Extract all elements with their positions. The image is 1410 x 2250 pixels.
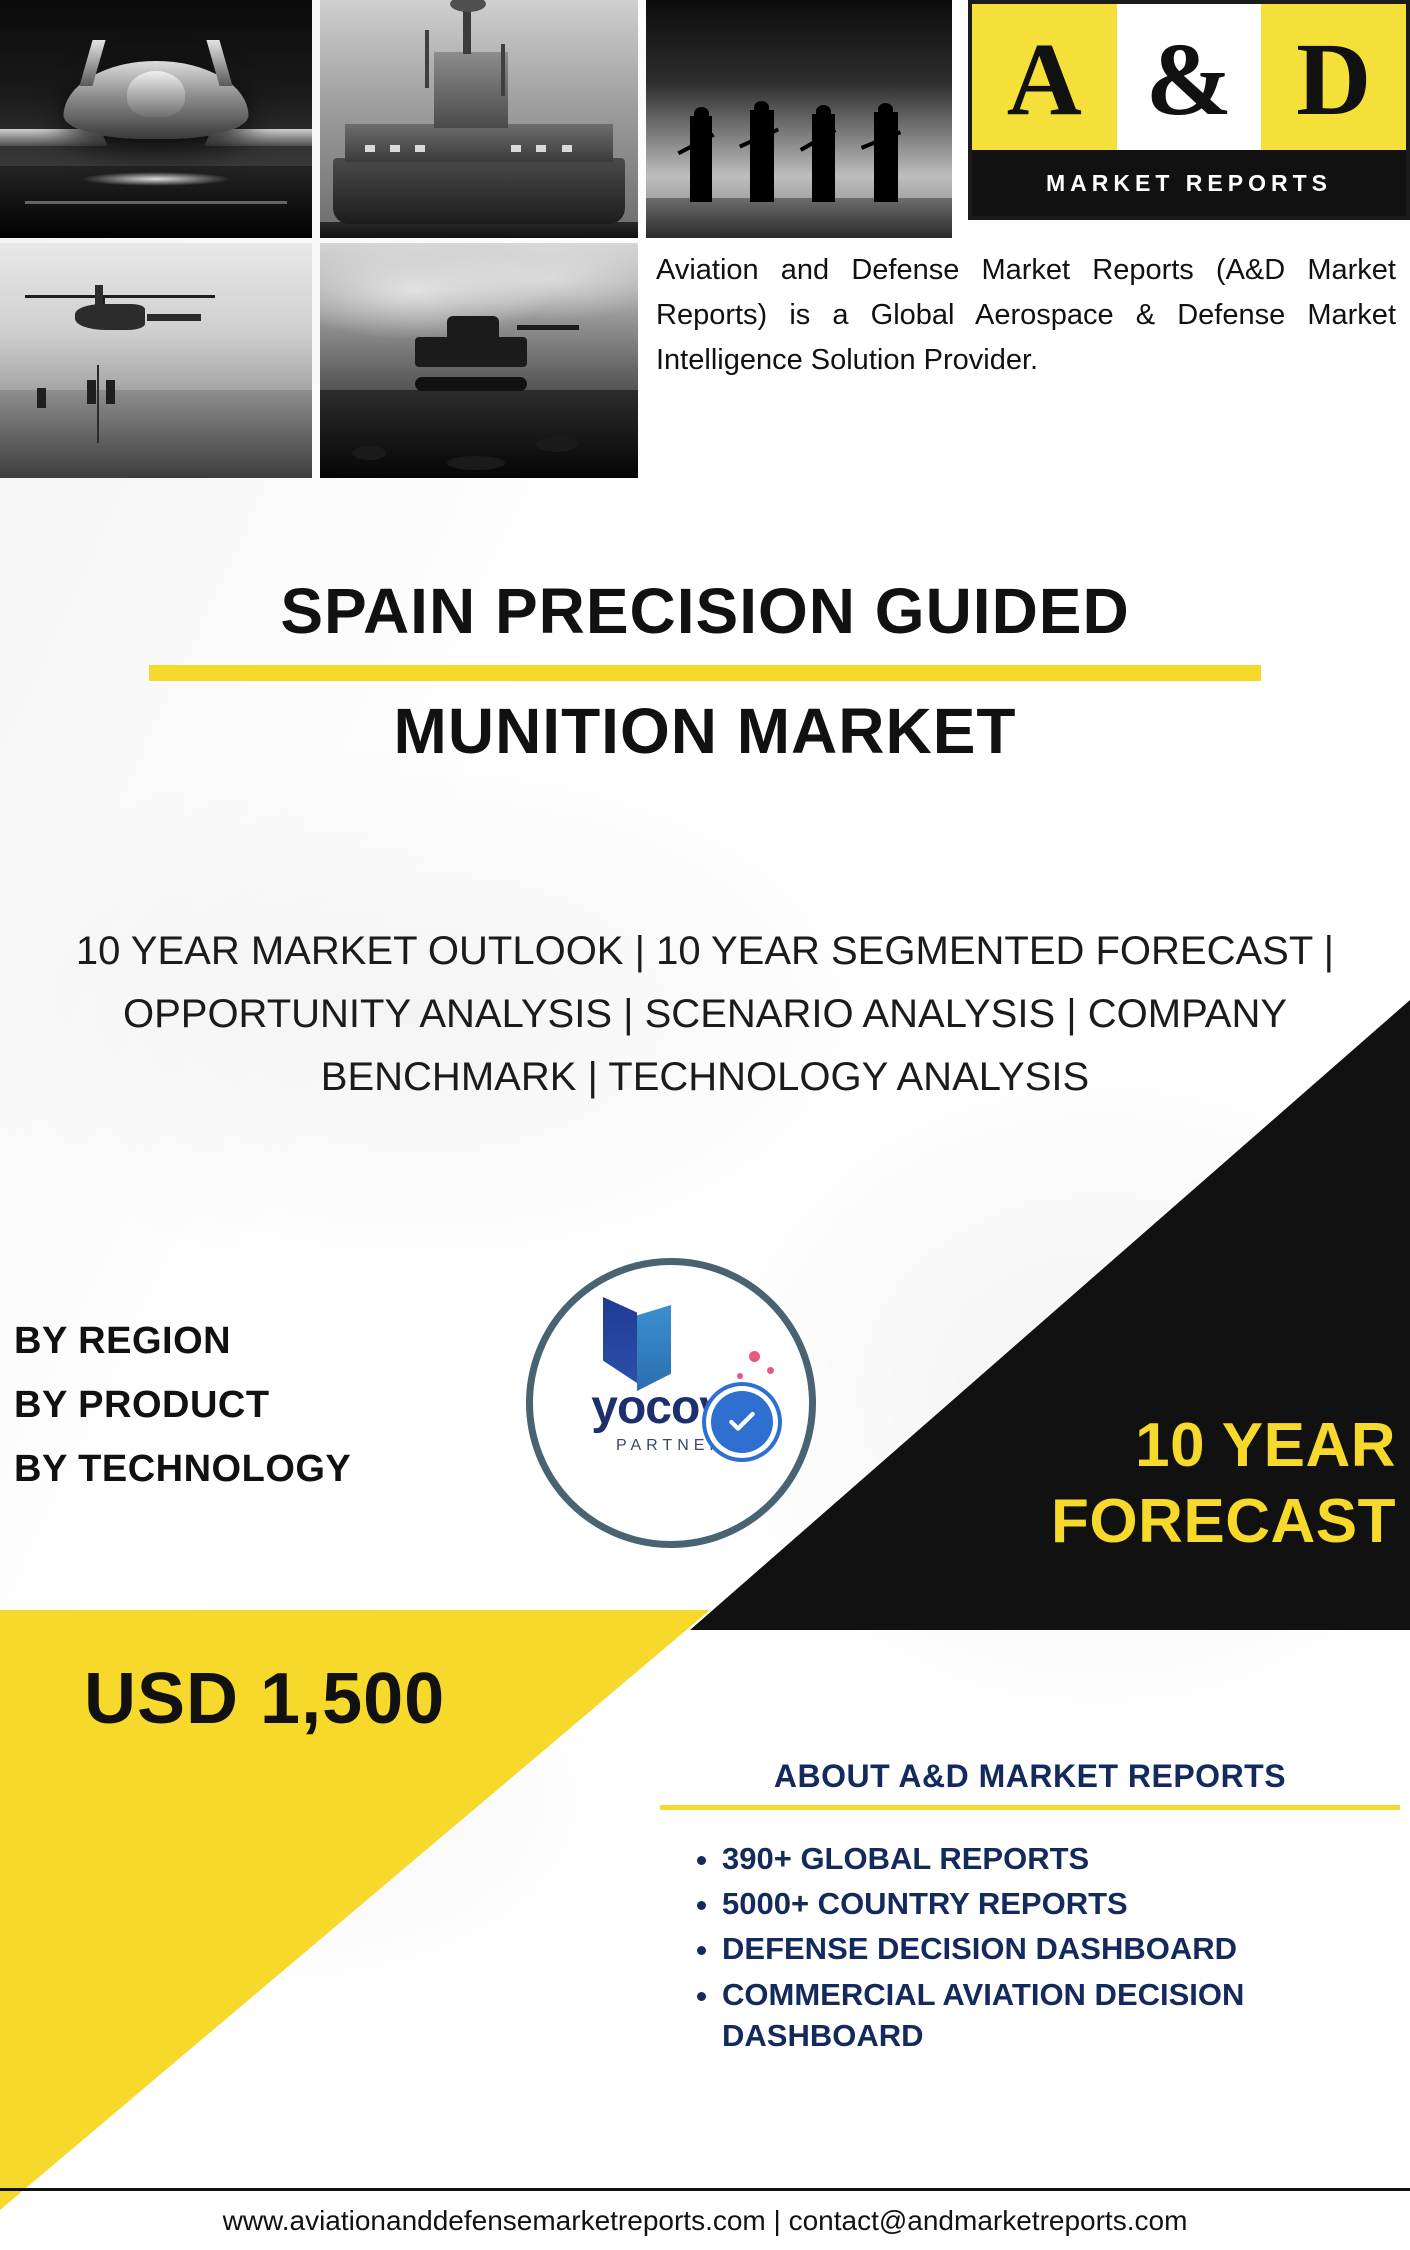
- logo-letter-d: D: [1296, 28, 1371, 132]
- report-title-line-1: SPAIN PRECISION GUIDED: [0, 575, 1410, 649]
- about-list: 390+ GLOBAL REPORTS 5000+ COUNTRY REPORT…: [660, 1838, 1400, 2056]
- segmentation-item-technology: BY TECHNOLOGY: [14, 1438, 351, 1502]
- company-logo: A & D MARKET REPORTS: [968, 0, 1410, 220]
- footer-contact-text: www.aviationanddefensemarketreports.com …: [223, 2205, 1188, 2237]
- about-title: ABOUT A&D MARKET REPORTS: [660, 1758, 1400, 1795]
- fighter-jet-photo: [0, 0, 312, 238]
- footer-bar: www.aviationanddefensemarketreports.com …: [0, 2188, 1410, 2250]
- forecast-line-2: FORECAST: [1051, 1484, 1396, 1560]
- report-title-line-2: MUNITION MARKET: [0, 695, 1410, 769]
- yocova-logo-shape-left-icon: [603, 1297, 637, 1383]
- segmentation-item-product: BY PRODUCT: [14, 1374, 351, 1438]
- segmentation-list: BY REGION BY PRODUCT BY TECHNOLOGY: [14, 1310, 351, 1501]
- report-subtitle: 10 YEAR MARKET OUTLOOK | 10 YEAR SEGMENT…: [40, 920, 1370, 1110]
- verified-check-icon: [711, 1391, 773, 1453]
- helicopter-photo: [0, 243, 312, 478]
- intro-paragraph: Aviation and Defense Market Reports (A&D…: [656, 248, 1396, 383]
- price-label: USD 1,500: [84, 1658, 445, 1740]
- yocova-logo-shape-right-icon: [637, 1305, 671, 1391]
- yocova-partner-badge: yocova PARTNER: [526, 1258, 816, 1548]
- about-list-item: DEFENSE DECISION DASHBOARD: [722, 1928, 1400, 1969]
- logo-ampersand: &: [1146, 28, 1233, 132]
- yocova-partner-label: PARTNER: [616, 1437, 726, 1455]
- about-list-item: COMMERCIAL AVIATION DECISION DASHBOARD: [722, 1974, 1400, 2056]
- about-list-item: 5000+ COUNTRY REPORTS: [722, 1883, 1400, 1924]
- logo-letter-a: A: [1007, 28, 1082, 132]
- soldiers-silhouette-photo: [646, 0, 952, 238]
- warship-photo: [320, 0, 638, 238]
- forecast-callout: 10 YEAR FORECAST: [1051, 1408, 1396, 1559]
- logo-subtitle: MARKET REPORTS: [1046, 170, 1332, 197]
- logo-letter-d-cell: D: [1261, 4, 1406, 156]
- segmentation-item-region: BY REGION: [14, 1310, 351, 1374]
- logo-letter-a-cell: A: [972, 4, 1117, 156]
- armored-vehicle-photo: [320, 243, 638, 478]
- forecast-line-1: 10 YEAR: [1051, 1408, 1396, 1484]
- about-underline: [660, 1805, 1400, 1810]
- title-underline: [149, 665, 1261, 681]
- about-section: ABOUT A&D MARKET REPORTS 390+ GLOBAL REP…: [660, 1758, 1400, 2060]
- report-title: SPAIN PRECISION GUIDED MUNITION MARKET: [0, 575, 1410, 768]
- logo-ampersand-cell: &: [1117, 4, 1262, 156]
- logo-subtitle-bar: MARKET REPORTS: [972, 150, 1406, 216]
- about-list-item: 390+ GLOBAL REPORTS: [722, 1838, 1400, 1879]
